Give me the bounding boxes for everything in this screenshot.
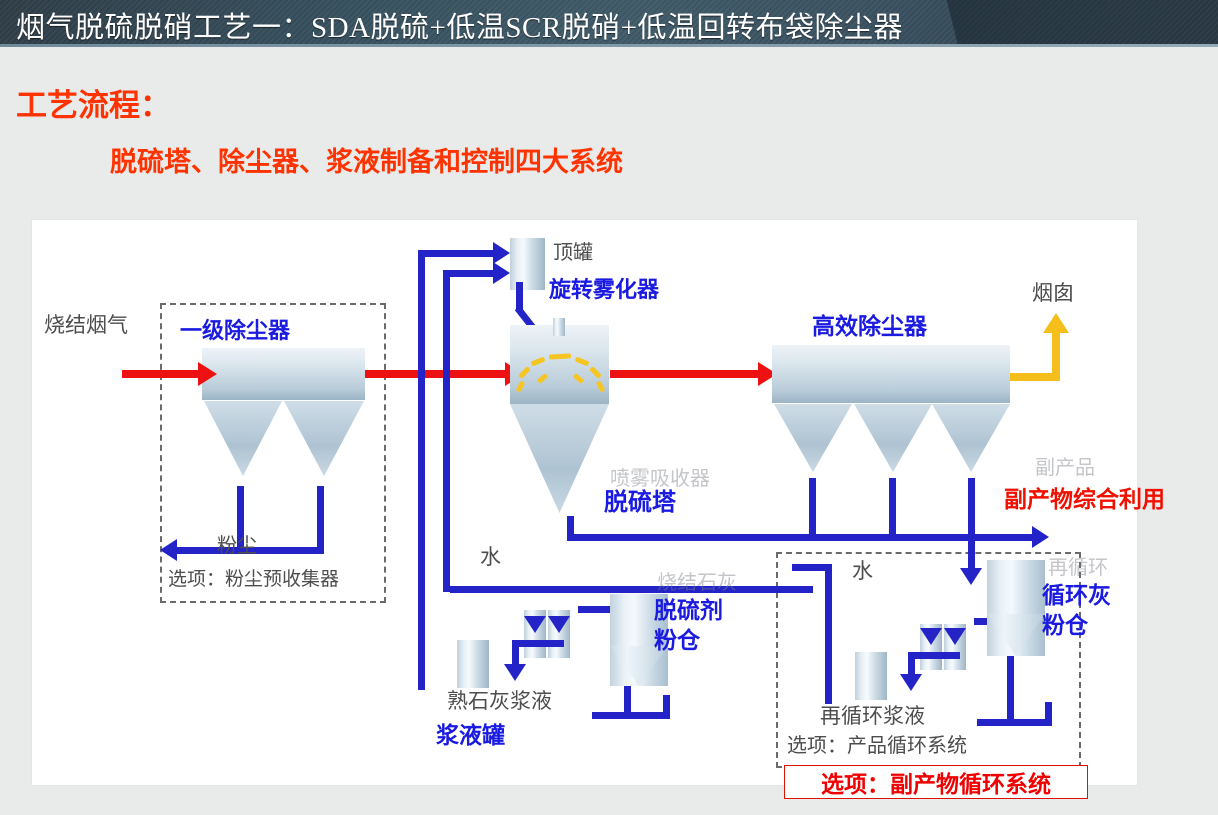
arrow-slurry-into-tank bbox=[504, 664, 526, 681]
arrow-recycle-into-tank bbox=[900, 674, 922, 691]
pipe-recycle-out-bot bbox=[977, 719, 1052, 726]
option-byproduct-recycle-banner: 选项：副产物循环系统 bbox=[784, 765, 1088, 799]
pipe-feed-lower-vertical bbox=[443, 270, 450, 592]
arrow-recycle-feed-a bbox=[920, 628, 942, 645]
label-recycle-ash-silo-l1: 循环灰 bbox=[1042, 583, 1111, 608]
pipe-flue-gas-to-tower bbox=[365, 370, 512, 378]
label-top-tank: 顶罐 bbox=[553, 242, 593, 264]
label-inlet-gas: 烧结烟气 bbox=[44, 314, 128, 337]
pipe-slurry-out-bot bbox=[592, 712, 670, 719]
desulfurization-tower-cone bbox=[510, 404, 609, 513]
pipe-recycle-out-riser bbox=[1045, 702, 1052, 726]
label-slurry-tank: 浆液罐 bbox=[436, 723, 505, 748]
label-primary-dust-collector: 一级除尘器 bbox=[180, 319, 290, 343]
atomizer-nozzle bbox=[553, 318, 565, 336]
primary-dust-collector-body bbox=[202, 348, 365, 400]
label-slaked-lime-slurry: 熟石灰浆液 bbox=[447, 690, 552, 713]
pipe-feed-upper-horizontal bbox=[418, 250, 496, 257]
high-efficiency-hopper-1 bbox=[774, 404, 852, 472]
arrow-stack-up bbox=[1043, 313, 1069, 333]
arrow-slurry-feed-a bbox=[524, 616, 546, 633]
label-desulfurizer-silo-l2: 粉仓 bbox=[654, 628, 700, 653]
arrow-feed-upper bbox=[493, 242, 510, 264]
title-underline bbox=[0, 44, 1218, 47]
pipe-flue-gas-to-collector bbox=[610, 370, 765, 378]
spray-pattern bbox=[515, 354, 607, 400]
label-desulfurizer-silo-l1: 脱硫剂 bbox=[654, 598, 723, 623]
label-dust: 粉尘 bbox=[217, 535, 257, 557]
label-option-product-recycle: 选项：产品循环系统 bbox=[787, 735, 967, 757]
pipe-ash-header-riser bbox=[567, 516, 574, 541]
arrow-dust-out bbox=[160, 539, 177, 561]
recycle-ash-silo bbox=[987, 560, 1045, 656]
arrow-slurry-feed-b bbox=[548, 616, 570, 633]
arrow-ash-into-silo bbox=[960, 568, 982, 585]
label-byproduct-utilization: 副产物综合利用 bbox=[1004, 487, 1165, 512]
high-efficiency-collector-body bbox=[772, 345, 1010, 403]
arrow-feed-lower bbox=[493, 262, 510, 284]
label-water-left: 水 bbox=[480, 546, 501, 569]
page-subtitle: 脱硫塔、除尘器、浆液制备和控制四大系统 bbox=[110, 140, 623, 179]
arrow-recycle-feed-b bbox=[944, 628, 966, 645]
title-bar: 烟气脱硫脱硝工艺一：SDA脱硫+低温SCR脱硝+低温回转布袋除尘器 bbox=[0, 0, 1218, 47]
label-rotary-atomizer: 旋转雾化器 bbox=[549, 278, 659, 302]
pipe-water-left-header bbox=[450, 586, 813, 593]
pipe-flue-gas-inlet bbox=[122, 370, 204, 378]
slide-title: 烟气脱硫脱硝工艺一：SDA脱硫+低温SCR脱硝+低温回转布袋除尘器 bbox=[16, 4, 903, 46]
process-flow-diagram: 烧结烟气 一级除尘器 粉尘 选项：粉尘预收集器 顶罐 旋转雾化器 bbox=[32, 220, 1137, 785]
slurry-tank-cyl-left bbox=[457, 640, 489, 688]
label-option-pre-collector: 选项：粉尘预收集器 bbox=[168, 570, 339, 591]
pipe-ash-drop-2 bbox=[889, 478, 896, 540]
label-recycle-ash-silo-l2: 粉仓 bbox=[1042, 613, 1088, 638]
pipe-dust-drop-2 bbox=[317, 486, 324, 553]
recycle-cyl-left bbox=[855, 652, 887, 700]
pipe-feed-lower-horizontal bbox=[443, 270, 496, 277]
arrow-ash-to-right bbox=[1032, 526, 1049, 548]
pipe-recycle-elbow-h bbox=[908, 652, 960, 659]
label-sintered-lime-faded: 烧结石灰 bbox=[657, 572, 737, 594]
label-water-right: 水 bbox=[852, 560, 873, 583]
pipe-feed-upper-vertical bbox=[418, 250, 425, 690]
pipe-slurry-elbow-h bbox=[512, 640, 564, 647]
label-recycle-slurry: 再循环浆液 bbox=[820, 705, 925, 728]
pipe-ash-drop-3 bbox=[968, 478, 975, 540]
pipe-recycle-return-v bbox=[825, 564, 832, 704]
label-spray-absorber-faded: 喷雾吸收器 bbox=[610, 468, 710, 490]
label-recycle-faded: 再循环 bbox=[1048, 557, 1108, 579]
arrow-flue-gas-inlet bbox=[198, 362, 217, 386]
label-desulfurization-tower: 脱硫塔 bbox=[604, 490, 676, 516]
pipe-ash-to-silo bbox=[968, 534, 975, 572]
label-chimney: 烟囱 bbox=[1032, 282, 1074, 305]
pipe-slurry-out-riser bbox=[663, 695, 670, 719]
option-byproduct-recycle-label: 选项：副产物循环系统 bbox=[821, 765, 1051, 799]
high-efficiency-hopper-2 bbox=[854, 404, 932, 472]
pipe-ash-header bbox=[567, 534, 1037, 541]
pipe-stack-vertical bbox=[1052, 332, 1060, 381]
page-title: 工艺流程： bbox=[16, 80, 171, 125]
high-efficiency-hopper-3 bbox=[932, 404, 1010, 472]
label-byproduct-faded: 副产品 bbox=[1035, 457, 1095, 479]
pipe-ash-drop-1 bbox=[809, 478, 816, 540]
label-high-efficiency-collector: 高效除尘器 bbox=[812, 314, 927, 339]
